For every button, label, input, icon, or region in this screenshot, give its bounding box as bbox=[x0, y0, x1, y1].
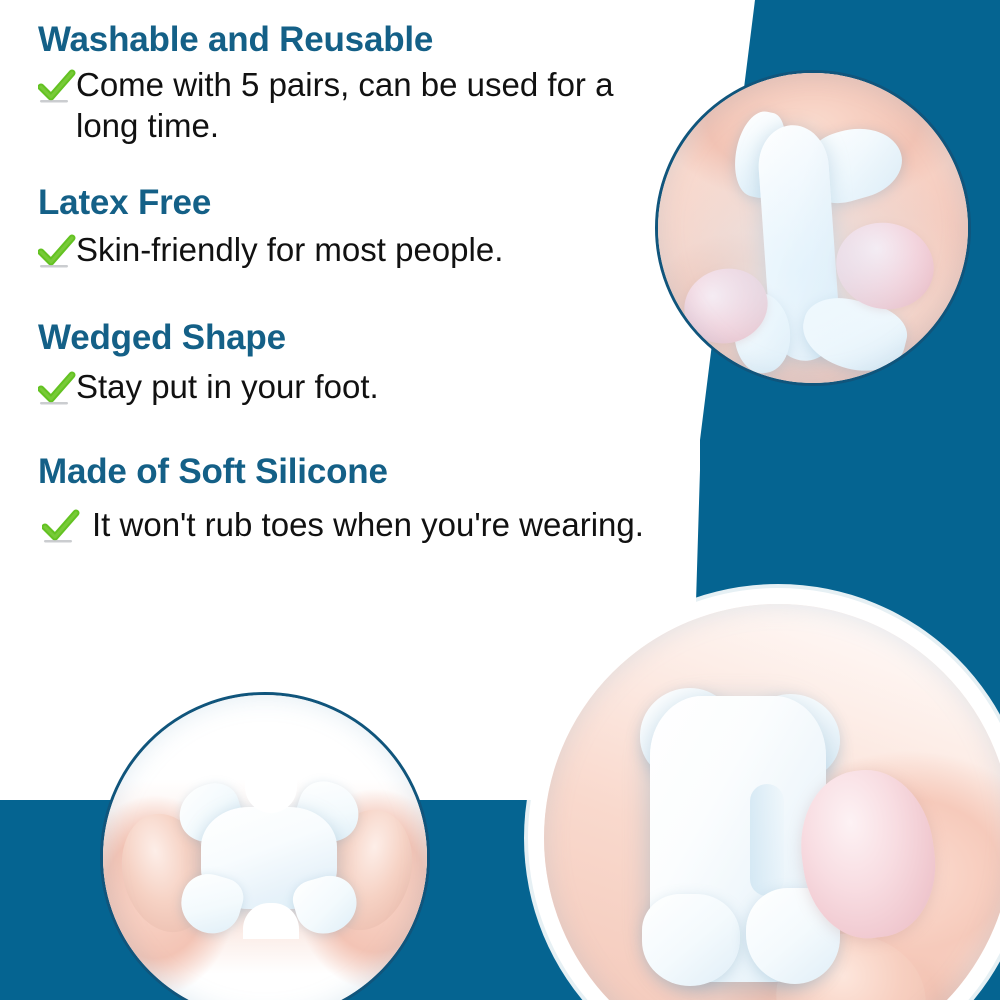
feature-bullet-text: Skin-friendly for most people. bbox=[76, 229, 503, 270]
feature-bullet: Stay put in your foot. bbox=[38, 366, 379, 407]
feature-bullet-text: Come with 5 pairs, can be used for a lon… bbox=[76, 64, 656, 146]
feature-item-1: Washable and Reusable Come with 5 pairs,… bbox=[38, 20, 656, 146]
feature-item-3: Wedged Shape Stay put in your foot. bbox=[38, 318, 379, 407]
feature-item-4: Made of Soft Silicone It won't rub toes … bbox=[38, 452, 644, 545]
feature-heading: Wedged Shape bbox=[38, 318, 379, 358]
photo-highlight-wash bbox=[658, 73, 968, 383]
green-check-icon bbox=[42, 509, 80, 545]
feature-bullet: Come with 5 pairs, can be used for a lon… bbox=[38, 64, 656, 146]
feature-bullet-text: Stay put in your foot. bbox=[76, 366, 379, 407]
green-check-icon bbox=[38, 69, 76, 105]
feature-bullet-text: It won't rub toes when you're wearing. bbox=[80, 504, 644, 545]
green-check-icon bbox=[38, 371, 76, 407]
spool-waist-shadow bbox=[750, 784, 784, 896]
feature-heading: Washable and Reusable bbox=[38, 20, 656, 60]
feature-heading: Latex Free bbox=[38, 183, 503, 223]
green-check-icon bbox=[38, 234, 76, 270]
product-photo-top-right bbox=[655, 70, 971, 386]
feature-heading: Made of Soft Silicone bbox=[38, 452, 644, 492]
feature-bullet: Skin-friendly for most people. bbox=[38, 229, 503, 270]
feature-bullet: It won't rub toes when you're wearing. bbox=[38, 504, 644, 545]
product-feature-poster: Washable and Reusable Come with 5 pairs,… bbox=[0, 0, 1000, 1000]
feature-list: Washable and Reusable Come with 5 pairs,… bbox=[0, 0, 680, 1000]
feature-item-2: Latex Free Skin-friendly for most people… bbox=[38, 183, 503, 270]
